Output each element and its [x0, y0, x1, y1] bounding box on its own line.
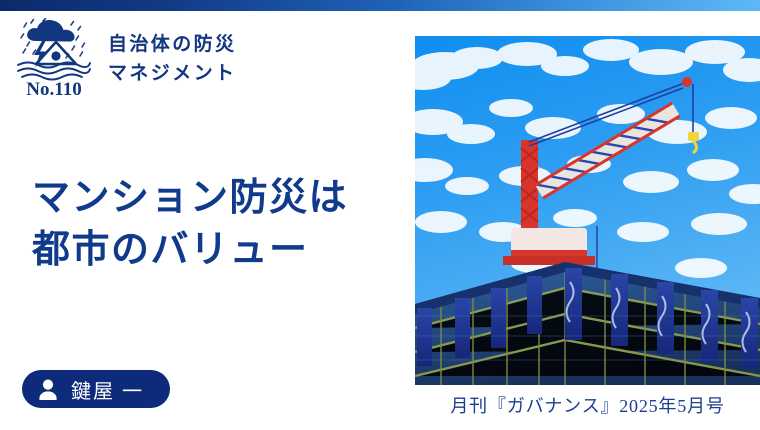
author-name: 鍵屋 一 — [71, 375, 144, 404]
issue-number: No.110 — [14, 80, 94, 99]
house-window-dot — [51, 51, 60, 60]
cloud-shape — [27, 20, 74, 42]
magazine-caption: 月刊『ガバナンス』2025年5月号 — [415, 392, 760, 418]
series-title: 自治体の防災 マネジメント — [108, 31, 236, 89]
headline-line-1: マンション防災は — [32, 172, 348, 224]
series-title-line2: マネジメント — [108, 63, 236, 84]
article-headline: マンション防災は 都市のバリュー — [32, 172, 348, 277]
person-icon — [38, 379, 58, 400]
disaster-house-flood-icon — [14, 18, 94, 84]
series-logo: No.110 — [14, 18, 94, 106]
series-header: No.110 自治体の防災 マネジメント — [14, 18, 236, 106]
photo-illustration — [415, 36, 760, 385]
construction-site-photo — [415, 36, 760, 385]
top-gradient-bar — [0, 0, 760, 11]
headline-line-2: 都市のバリュー — [32, 224, 348, 276]
series-title-line1: 自治体の防災 — [108, 34, 236, 55]
author-badge[interactable]: 鍵屋 一 — [22, 370, 170, 408]
article-title-slide: No.110 自治体の防災 マネジメント マンション防災は 都市のバリュー 鍵屋… — [0, 0, 760, 430]
